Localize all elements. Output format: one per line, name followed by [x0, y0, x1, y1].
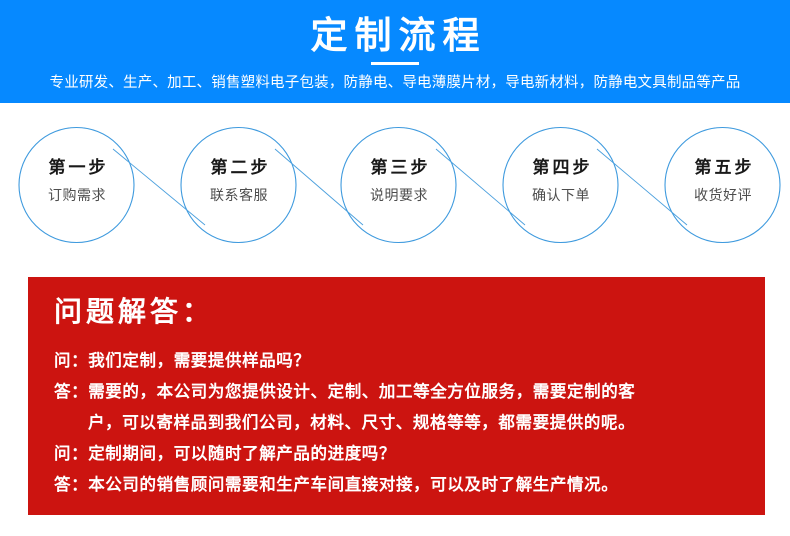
step-title: 第四步 — [503, 157, 619, 179]
step-description: 联系客服 — [181, 185, 297, 205]
step-title: 第二步 — [181, 157, 297, 179]
process-steps-section: 第一步 订购需求 第二步 联系客服 第三步 说明要求 第四步 确认下单 第五步 … — [0, 103, 790, 268]
step-title: 第一步 — [19, 157, 135, 179]
faq-answer: 答：本公司的销售顾问需要和生产车间直接对接，可以及时了解生产情况。 — [54, 470, 744, 501]
step-item-4[interactable]: 第四步 确认下单 — [503, 127, 619, 243]
faq-heading: 问题解答： — [54, 294, 214, 330]
step-description: 收货好评 — [665, 185, 781, 205]
page-title: 定制流程 — [0, 14, 790, 58]
page-subtitle: 专业研发、生产、加工、销售塑料电子包装，防静电、导电薄膜片材，导电新材料，防静电… — [0, 72, 790, 94]
step-item-2[interactable]: 第二步 联系客服 — [181, 127, 297, 243]
faq-question: 问：定制期间，可以随时了解产品的进度吗？ — [54, 439, 744, 470]
faq-panel: 问题解答： 问：我们定制，需要提供样品吗？ 答：需要的，本公司为您提供设计、定制… — [28, 277, 765, 515]
faq-answer-continuation: 户，可以寄样品到我们公司，材料、尺寸、规格等等，都需要提供的呢。 — [54, 408, 744, 439]
faq-answer: 答：需要的，本公司为您提供设计、定制、加工等全方位服务，需要定制的客 — [54, 377, 744, 408]
step-title: 第三步 — [341, 157, 457, 179]
faq-list: 问：我们定制，需要提供样品吗？ 答：需要的，本公司为您提供设计、定制、加工等全方… — [54, 346, 744, 501]
step-description: 订购需求 — [19, 185, 135, 205]
step-title: 第五步 — [665, 157, 781, 179]
title-underline-divider — [371, 62, 419, 65]
step-item-3[interactable]: 第三步 说明要求 — [341, 127, 457, 243]
step-item-1[interactable]: 第一步 订购需求 — [19, 127, 135, 243]
step-item-5[interactable]: 第五步 收货好评 — [665, 127, 781, 243]
step-description: 说明要求 — [341, 185, 457, 205]
page-header-banner: 定制流程 专业研发、生产、加工、销售塑料电子包装，防静电、导电薄膜片材，导电新材… — [0, 0, 790, 103]
step-description: 确认下单 — [503, 185, 619, 205]
faq-question: 问：我们定制，需要提供样品吗？ — [54, 346, 744, 377]
